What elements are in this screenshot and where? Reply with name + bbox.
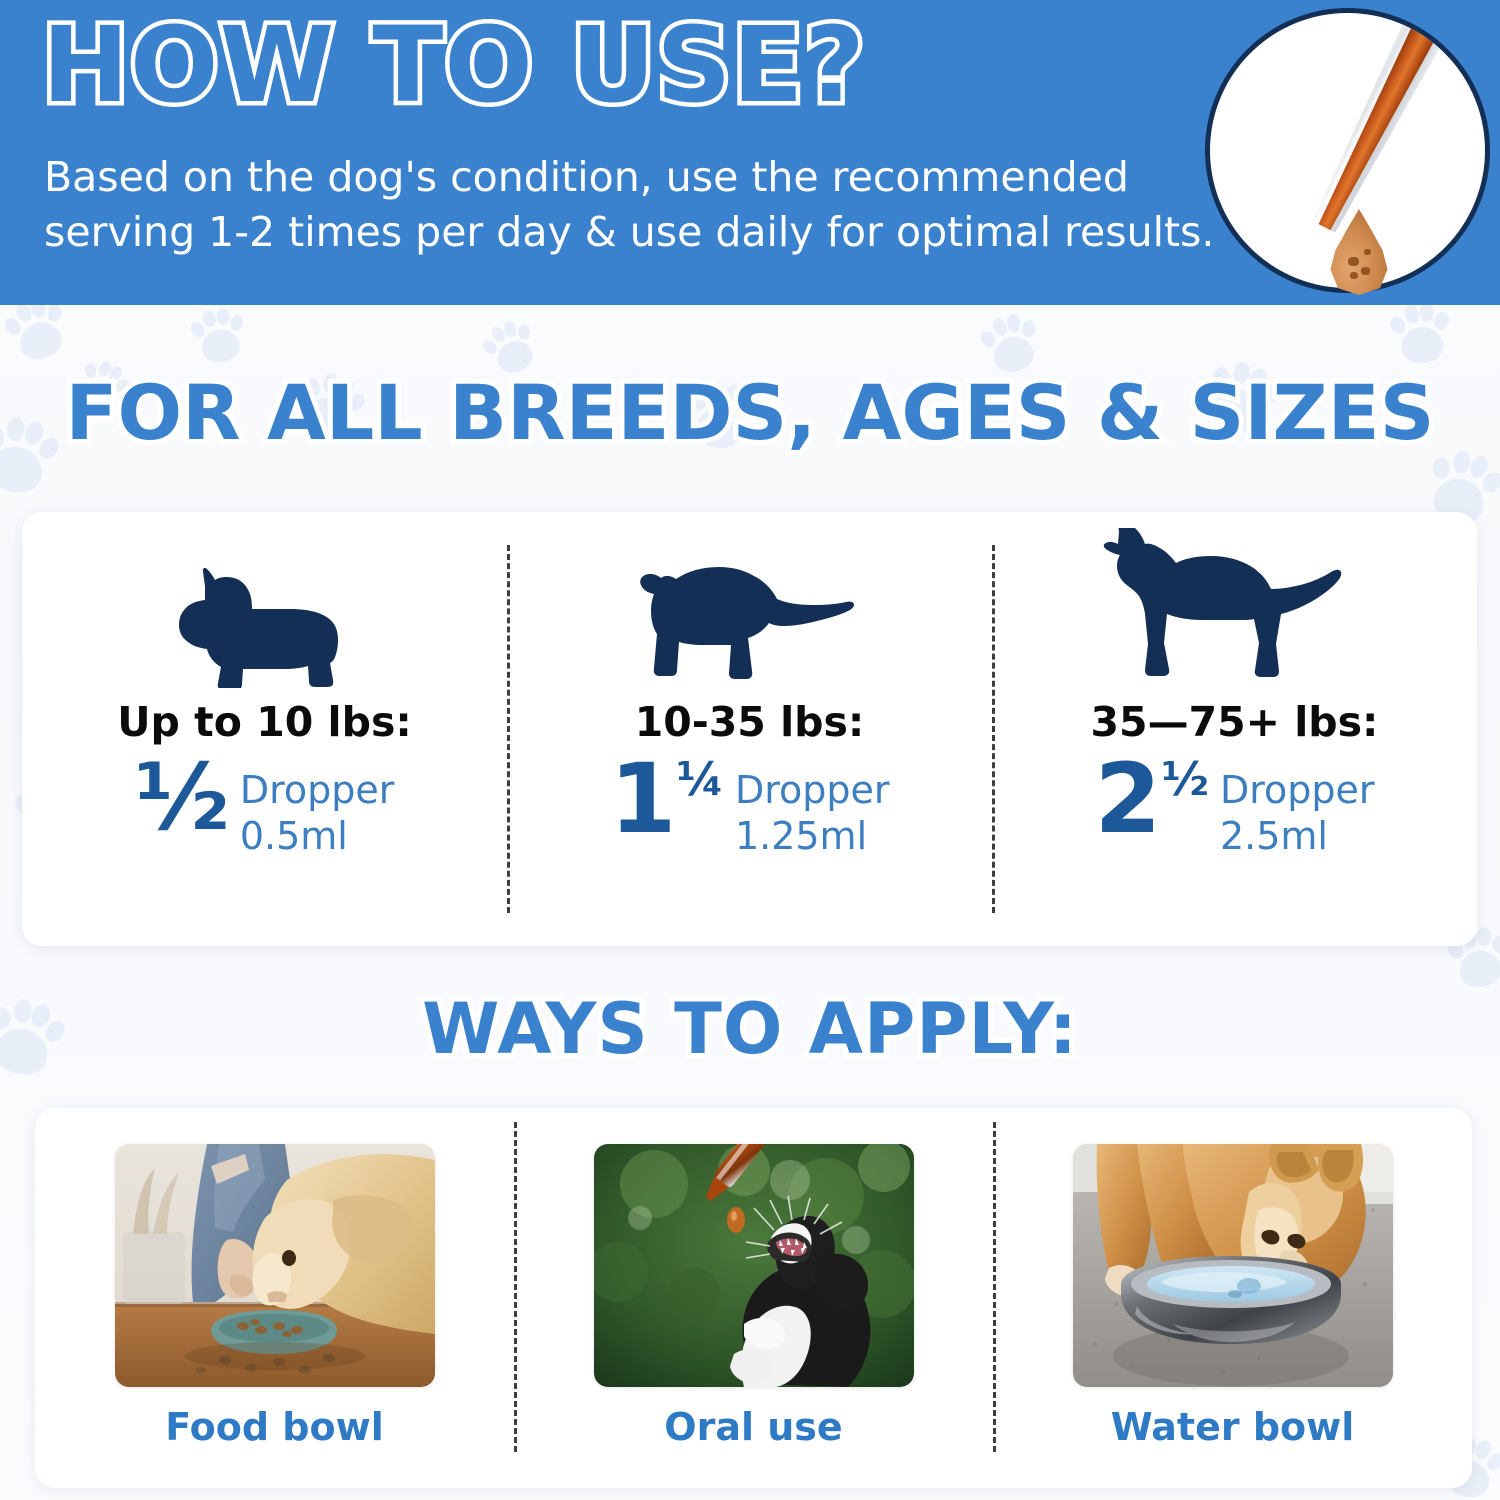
dosage-column-medium: 10-35 lbs: 1 ¼ Dropper 1.25ml bbox=[507, 512, 992, 946]
dropper-label: Dropper bbox=[735, 768, 890, 814]
apply-caption: Oral use bbox=[664, 1405, 842, 1449]
weight-label: Up to 10 lbs: bbox=[117, 698, 412, 746]
dose-amount: 1 ¼ bbox=[610, 754, 723, 845]
dose-volume: 2.5ml bbox=[1220, 814, 1375, 860]
paw-print-icon bbox=[1387, 298, 1456, 370]
dose-amount: 2 ½ bbox=[1095, 754, 1208, 845]
header-subtitle-line-2: serving 1-2 times per day & use daily fo… bbox=[44, 205, 1164, 260]
apply-column-water-bowl: Water bowl bbox=[993, 1108, 1472, 1488]
dose-line: ½ Dropper 0.5ml bbox=[135, 754, 395, 859]
small-dog-silhouette bbox=[157, 538, 372, 688]
apply-caption: Water bowl bbox=[1111, 1405, 1355, 1449]
dosage-row: Up to 10 lbs: ½ Dropper 0.5ml 10-35 lbs: bbox=[22, 512, 1477, 946]
dose-fraction: ½ bbox=[1161, 756, 1208, 802]
dose-volume: 1.25ml bbox=[735, 814, 890, 860]
dosage-column-small: Up to 10 lbs: ½ Dropper 0.5ml bbox=[22, 512, 507, 946]
dose-whole-number: 2 bbox=[1095, 754, 1162, 845]
dose-line: 2 ½ Dropper 2.5ml bbox=[1095, 754, 1375, 859]
breeds-section-heading: FOR ALL BREEDS, AGES & SIZES bbox=[0, 368, 1500, 457]
dosage-column-large: 35—75+ lbs: 2 ½ Dropper 2.5ml bbox=[992, 512, 1477, 946]
dose-fraction: ¼ bbox=[676, 756, 723, 802]
apply-row: Food bowl bbox=[35, 1108, 1472, 1488]
dose-amount: ½ bbox=[135, 754, 228, 841]
dose-description: Dropper 1.25ml bbox=[735, 754, 890, 859]
header-subtitle: Based on the dog's condition, use the re… bbox=[44, 150, 1164, 259]
dropper-label: Dropper bbox=[1220, 768, 1375, 814]
page-title: HOW TO USE? bbox=[42, 8, 866, 122]
medium-dog-silhouette bbox=[625, 538, 875, 688]
dose-description: Dropper 0.5ml bbox=[240, 754, 395, 859]
header-subtitle-line-1: Based on the dog's condition, use the re… bbox=[44, 150, 1164, 205]
dose-line: 1 ¼ Dropper 1.25ml bbox=[610, 754, 890, 859]
pipette-icon bbox=[1301, 13, 1454, 239]
shiba-inu-drinking-from-water-bowl-photo bbox=[1073, 1144, 1393, 1387]
weight-label: 35—75+ lbs: bbox=[1091, 698, 1379, 746]
paw-print-icon bbox=[186, 302, 251, 370]
apply-column-oral-use: Oral use bbox=[514, 1108, 993, 1488]
golden-retriever-eating-from-food-bowl-photo bbox=[115, 1144, 435, 1387]
weight-label: 10-35 lbs: bbox=[635, 698, 865, 746]
dose-whole-number: 1 bbox=[610, 754, 677, 845]
apply-section-heading: WAYS TO APPLY: bbox=[0, 988, 1500, 1070]
dose-fraction: ½ bbox=[135, 754, 228, 841]
dropper-with-drop-icon bbox=[1205, 8, 1490, 293]
dose-description: Dropper 2.5ml bbox=[1220, 754, 1375, 859]
border-collie-catching-dropper-drop-photo bbox=[594, 1144, 914, 1387]
large-dog-silhouette bbox=[1100, 538, 1370, 688]
dropper-label: Dropper bbox=[240, 768, 395, 814]
apply-caption: Food bowl bbox=[165, 1405, 384, 1449]
apply-column-food-bowl: Food bowl bbox=[35, 1108, 514, 1488]
dose-volume: 0.5ml bbox=[240, 814, 395, 860]
infographic-page: HOW TO USE? Based on the dog's condition… bbox=[0, 0, 1500, 1500]
